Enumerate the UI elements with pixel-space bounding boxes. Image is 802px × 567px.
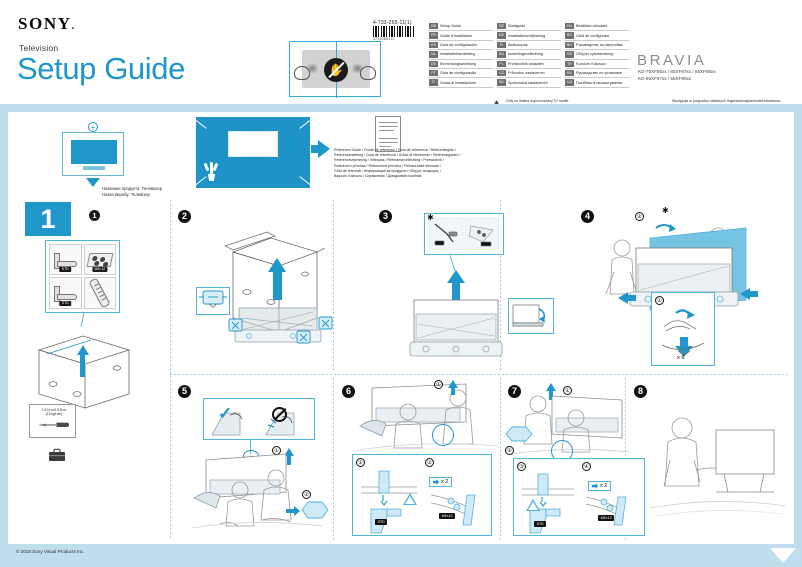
step-6-stand-inset: ① ② STD x 2 M5×12 (352, 454, 492, 536)
language-name: Einrichtungsanleitung (440, 62, 476, 66)
step-7-screw-tag: M5×12 (598, 515, 614, 521)
language-column-3: HUBeállítási útmutatóROGhid de configura… (565, 22, 629, 88)
step-8-illustration (646, 400, 786, 530)
language-row: SKSprievodca nastavením (497, 78, 561, 87)
step-1-substep-1: 1 (89, 210, 100, 221)
language-code: SK (497, 79, 506, 85)
language-code: GR (565, 51, 574, 57)
model-numbers: KD-75XF85xx / 65XF87xx / 65XF85xx KD-55X… (638, 69, 716, 82)
language-code: PT (429, 70, 438, 76)
language-name: Посібник зі налаштування (576, 81, 622, 85)
step-6-screw-tag: M5×12 (439, 513, 455, 519)
language-name: Kurulum Kılavuzu (576, 62, 606, 66)
tv-screen-icon (71, 140, 117, 164)
accessory-tag-1: STD (59, 267, 71, 272)
language-name: Ghid de configurare (576, 34, 609, 38)
language-row: PLPrzewodnik ustawień (497, 60, 561, 69)
language-row: DKInstallationsvejledning (497, 31, 561, 40)
step-3-accessory-inset: ✱ (424, 213, 504, 255)
language-code: ES (429, 42, 438, 48)
language-name: Ръководство за настройка (576, 43, 623, 47)
check-icon: ✓ (218, 404, 232, 424)
product-name-illustration: + Название продукта: Телевизор Назва вир… (24, 118, 174, 196)
step-4-clip-inset: ① x 6 (651, 292, 715, 366)
step-7-leg-tag: STD (534, 521, 546, 527)
language-name: Startguide (508, 24, 525, 28)
prohibited-icon (272, 407, 287, 422)
plant-icon (204, 157, 218, 181)
language-code: HU (565, 23, 574, 29)
language-row: CZPrůvodce nastavením (497, 69, 561, 78)
language-name: Aloitusopas (508, 43, 528, 47)
accessories-box: STD M5×12 STD (45, 240, 120, 313)
language-row: SEStartguide (497, 22, 561, 31)
language-name: Руководство по установке (576, 71, 622, 75)
divider-1 (170, 200, 171, 540)
step-6-leg-tag: STD (375, 519, 387, 525)
language-row: BGРъководство за настройка (565, 41, 629, 50)
step-1-badge: 1 (25, 202, 71, 236)
step-4-star: ✱ (662, 206, 669, 215)
language-code: FR (429, 32, 438, 38)
room-illustration (194, 115, 312, 190)
language-name: Sprievodca nastavením (508, 81, 548, 85)
accessory-screws: M5×12 (84, 244, 117, 275)
accessory-stand-leg-1: STD (49, 244, 82, 275)
step-4-substep-2: ② (635, 212, 644, 221)
carton-box-illustration (33, 328, 135, 410)
no-touch-screen-icon: ✋ (324, 58, 348, 82)
page-title: Setup Guide (17, 51, 185, 87)
torque-spec-card: 1.5 N·m/1.5 N·m (15 kgf·cm) (29, 404, 76, 438)
step-6-substep-2: ② (425, 458, 434, 467)
accessory-tag-2: M5×12 (92, 267, 107, 272)
continue-arrow-icon (770, 548, 796, 563)
language-row: GBSetup Guide (429, 22, 493, 31)
step-4-substep-1: ① (655, 296, 664, 305)
step-2-clip-1 (228, 318, 244, 338)
product-name-caption-2: Назва виробу: Телевізор (102, 192, 150, 197)
language-row: ITGuida di installazione (429, 78, 493, 87)
language-row: NLInstallatiehandleiding (429, 50, 493, 59)
language-code: FI (497, 42, 506, 48)
model-line-2: KD-55XF87xx / 55XF85xx (638, 76, 716, 83)
pinch-warning-icon (403, 493, 417, 505)
page-header: SONY. Television Setup Guide 4-733-265-1… (0, 0, 802, 104)
language-name: Guía de configuración (440, 43, 477, 47)
step-2-clip-2 (296, 330, 312, 350)
divider-4 (333, 378, 334, 540)
step-4-quantity: x 6 (677, 355, 684, 361)
language-code: NO (497, 51, 506, 57)
language-row: DEEinrichtungsanleitung (429, 60, 493, 69)
language-row: PTGuia de configuração (429, 69, 493, 78)
plant-leaf-right (213, 163, 219, 172)
reference-guide-line: Başvuru Kılavuzu / Справочник / Довідков… (334, 174, 494, 179)
language-name: Guia de configuração (440, 71, 476, 75)
step-5-handling-inset: ✓ (203, 398, 315, 440)
language-code: SE (497, 23, 506, 29)
language-name: Installationsvejledning (508, 34, 545, 38)
language-name: Installatiehandleiding (440, 52, 475, 56)
step-2-clip-3 (318, 316, 334, 336)
language-code: DE (429, 61, 438, 67)
language-code: NL (429, 51, 438, 57)
wall-tv-icon (228, 131, 278, 157)
language-code: DK (497, 32, 506, 38)
hand-glyph: ✋ (329, 64, 344, 76)
step-3-tilt-inset (508, 298, 554, 334)
remote-control-icon (89, 278, 111, 309)
step-6-quantity: x 2 (441, 479, 448, 485)
tv-base-icon (83, 166, 105, 170)
plant-pot (207, 174, 216, 181)
language-column-1: GBSetup GuideFRGuide d'installationESGuí… (429, 22, 493, 88)
setup-guide-poster: SONY. Television Setup Guide 4-733-265-1… (0, 0, 802, 567)
divider-5 (500, 378, 501, 540)
sony-wordmark: SONY (18, 14, 72, 33)
step-6-number: 6 (342, 385, 355, 398)
step-4-number: 4 (581, 210, 594, 223)
language-row: HUBeállítási útmutató (565, 22, 629, 31)
reference-guide-language-list: Reference Guide / Guide de référence / G… (334, 148, 494, 179)
tool-bag-icon (48, 448, 66, 462)
language-name: Przewodnik ustawień (508, 62, 544, 66)
step-8-number: 8 (634, 385, 647, 398)
language-row: GRΟδηγός εγκατάστασης (565, 50, 629, 59)
language-column-2: SEStartguideDKInstallationsvejledningFIA… (497, 22, 561, 88)
torque-value: 1.5 N·m/1.5 N·m (15 kgf·cm) (33, 408, 75, 417)
language-name: Innstillingsveiledning (508, 52, 543, 56)
language-row: UAПосібник зі налаштування (565, 78, 629, 87)
step-3-star: ✱ (427, 213, 434, 222)
language-code: UA (565, 79, 574, 85)
arrow-down-icon (86, 178, 100, 187)
language-code: TR (565, 61, 574, 67)
language-row: FIAloitusopas (497, 41, 561, 50)
tv-on-stand-icon (62, 132, 124, 176)
accessory-stand-leg-2: STD (49, 277, 82, 309)
step-5-cushion (300, 498, 330, 525)
step-7-substep-3: ③ (517, 462, 526, 471)
sony-logo-dot: . (72, 21, 76, 32)
accessory-tag-3: STD (59, 301, 71, 306)
language-name: Guida di installazione (440, 81, 476, 85)
screw-pack-icon (86, 253, 113, 267)
step-2-clip-hand-inset (196, 287, 230, 315)
step-7-substep-4: ④ (582, 462, 591, 471)
language-name: Guide d'installation (440, 34, 472, 38)
language-row: FRGuide d'installation (429, 31, 493, 40)
language-code: PL (497, 61, 506, 67)
stand-leg-icon (54, 285, 76, 301)
step-6-highlight (432, 424, 454, 446)
copyright-text: © 2018 Sony Visual Products Inc. (16, 549, 84, 554)
language-row: ESGuía de configuración (429, 41, 493, 50)
screwdriver-icon (37, 421, 70, 429)
step-5-push-arrow (286, 503, 300, 521)
step-5-number: 5 (178, 385, 191, 398)
tighten-arrow-icon (433, 479, 439, 485)
hand-right-icon (360, 66, 376, 80)
language-row: ROGhid de configurare (565, 31, 629, 40)
step-7-substep-2: ② (505, 446, 514, 455)
language-code: GB (429, 23, 438, 29)
plant-leaf-left (204, 163, 210, 172)
language-row: RUРуководство по установке (565, 69, 629, 78)
language-name: Οδηγός εγκατάστασης (576, 52, 614, 56)
arrow-right-icon (318, 140, 330, 158)
divider-2 (333, 200, 334, 372)
language-code: CZ (497, 70, 506, 76)
language-name: Setup Guide (440, 24, 461, 28)
language-table: GBSetup GuideFRGuide d'installationESGuí… (429, 22, 629, 88)
barcode-icon (373, 26, 415, 37)
language-row: NOInnstillingsveiledning (497, 50, 561, 59)
step-6-qty-pill: x 2 (429, 477, 452, 487)
screen-handling-warning: ✋ (289, 41, 381, 97)
step-7-stand-inset: ③ ④ STD x 2 M5×12 (513, 458, 645, 536)
plus-icon: + (88, 122, 98, 132)
language-code: IT (429, 79, 438, 85)
product-line-logo: BRAVIA (637, 52, 707, 69)
language-name: Průvodce nastavením (508, 71, 545, 75)
language-name: Beállítási útmutató (576, 24, 607, 28)
step-6-illustration: ① (358, 382, 498, 454)
hand-left-icon (294, 66, 310, 80)
language-row: TRKurulum Kılavuzu (565, 60, 629, 69)
accessory-remote (84, 277, 117, 309)
reference-guide-booklet-icon (375, 116, 401, 152)
step-6-substep-1: ① (356, 458, 365, 467)
sony-logo: SONY. (18, 14, 76, 34)
product-name-caption-1: Название продукта: Телевизор (102, 186, 162, 191)
language-code: BG (565, 42, 574, 48)
step-2-number: 2 (178, 210, 191, 223)
language-code: RO (565, 32, 574, 38)
step-3-illustration (400, 268, 515, 368)
step-3-number: 3 (379, 210, 392, 223)
model-line-1: KD-75XF85xx / 65XF87xx / 65XF85xx (638, 69, 716, 76)
stand-leg-icon (54, 252, 76, 268)
language-code: RU (565, 70, 574, 76)
pinch-warning-icon (526, 499, 540, 511)
torque-line-2: (15 kgf·cm) (33, 412, 75, 416)
